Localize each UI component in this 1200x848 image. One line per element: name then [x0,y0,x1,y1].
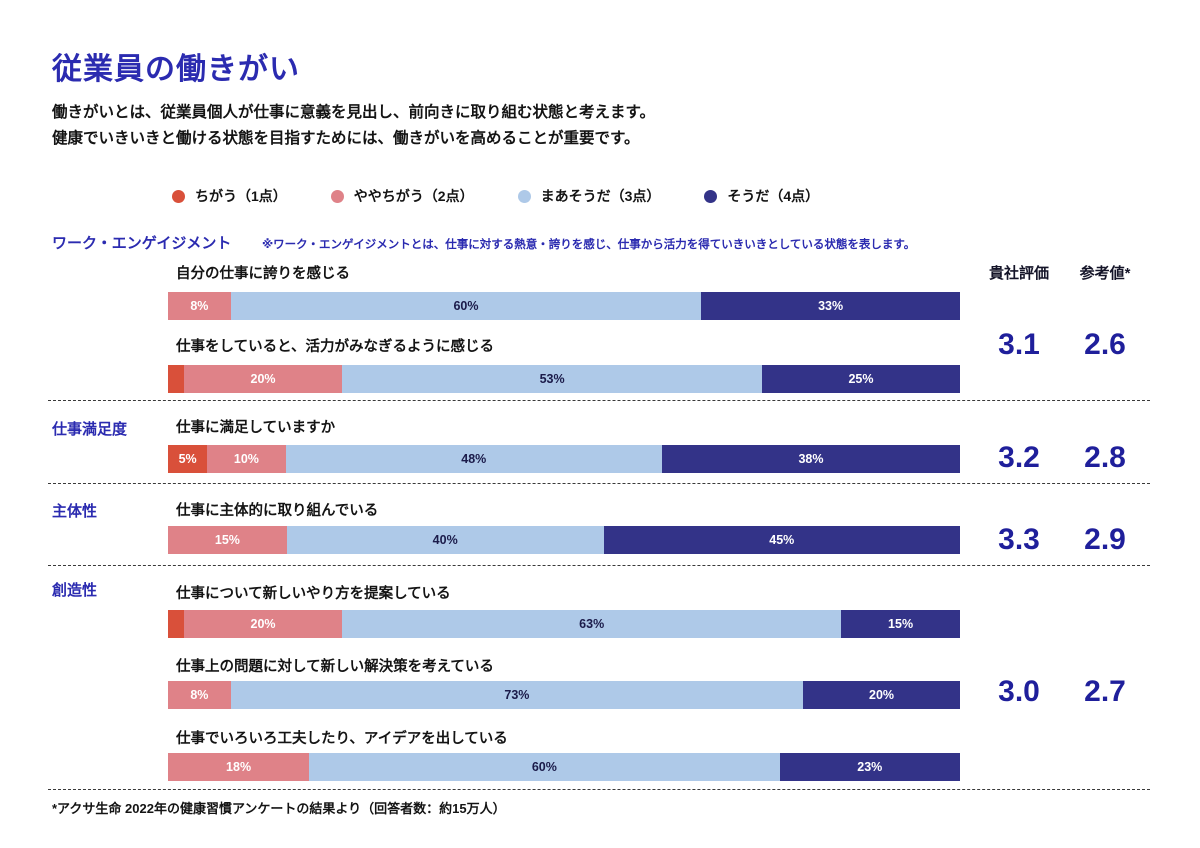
legend-item: そうだ（4点） [704,186,819,206]
section-divider [48,565,1150,566]
source-footnote: *アクサ生命 2022年の健康習慣アンケートの結果より（回答者数：約15万人） [52,798,506,817]
bar-segment: 73% [231,681,803,709]
own-score-value: 3.3 [982,523,1056,557]
bar-segment-value: 63% [579,617,604,631]
bar-segment-value: 10% [234,452,259,466]
stacked-bar: 8%60%33% [168,292,960,320]
bar-segment-value: 48% [461,452,486,466]
bar-segment-value: 25% [848,372,873,386]
bar-segment-value: 53% [540,372,565,386]
bar-segment: 60% [309,753,779,781]
bar-segment: 18% [168,753,309,781]
section-label-2: 主体性 [52,500,97,521]
bar-segment-value: 23% [857,760,882,774]
bar-segment: 8% [168,292,231,320]
bar-segment: 63% [342,610,841,638]
bar-segment: 23% [780,753,960,781]
question-label: 仕事上の問題に対して新しい解決策を考えている [176,655,494,676]
legend: ちがう（1点）ややちがう（2点）まあそうだ（3点）そうだ（4点） [172,186,819,206]
legend-item: ちがう（1点） [172,186,287,206]
bar-segment-value: 20% [251,617,276,631]
reference-score-value: 2.6 [1068,328,1142,362]
bar-segment: 40% [287,526,604,554]
section-label-0: ワーク・エンゲイジメント [52,232,231,253]
own-score-value: 3.2 [982,441,1056,475]
bar-segment-value: 20% [869,688,894,702]
bar-segment: 33% [701,292,960,320]
section-divider [48,400,1150,401]
bar-segment-value: 60% [453,299,478,313]
bar-segment: 10% [207,445,285,473]
bar-segment-value: 40% [433,533,458,547]
bar-segment-value: 5% [179,452,197,466]
own-score-value: 3.0 [982,675,1056,709]
question-label: 仕事に主体的に取り組んでいる [176,499,378,520]
bar-segment [168,610,184,638]
bar-segment-value: 33% [818,299,843,313]
bar-segment: 60% [231,292,701,320]
intro-paragraph: 働きがいとは、従業員個人が仕事に意義を見出し、前向きに取り組む状態と考えます。 … [52,100,655,152]
bar-segment: 5% [168,445,207,473]
footnote-divider [48,789,1150,790]
stacked-bar: 15%40%45% [168,526,960,554]
section-note-0: ※ワーク・エンゲイジメントとは、仕事に対する熱意・誇りを感じ、仕事から活力を得て… [262,236,915,252]
question-label: 仕事でいろいろ工夫したり、アイデアを出している [176,727,508,748]
bar-segment: 38% [662,445,960,473]
bar-segment: 53% [342,365,762,393]
reference-score-value: 2.9 [1068,523,1142,557]
legend-item: まあそうだ（3点） [518,186,661,206]
circle-icon [518,190,531,203]
bar-segment-value: 18% [226,760,251,774]
bar-segment-value: 8% [190,688,208,702]
legend-item-label: まあそうだ（3点） [541,186,661,206]
bar-segment: 15% [168,526,287,554]
stacked-bar: 20%53%25% [168,365,960,393]
bar-segment-value: 38% [798,452,823,466]
bar-segment: 20% [184,610,342,638]
bar-segment-value: 73% [504,688,529,702]
section-divider [48,483,1150,484]
question-label: 自分の仕事に誇りを感じる [176,262,350,283]
circle-icon [331,190,344,203]
bar-segment-value: 8% [190,299,208,313]
own-score-value: 3.1 [982,328,1056,362]
column-header-own-score: 貴社評価 [982,262,1056,283]
infographic-page: 従業員の働きがい 働きがいとは、従業員個人が仕事に意義を見出し、前向きに取り組む… [0,0,1200,848]
reference-score-value: 2.7 [1068,675,1142,709]
question-label: 仕事について新しいやり方を提案している [176,582,451,603]
bar-segment: 20% [184,365,342,393]
bar-segment: 15% [841,610,960,638]
legend-item-label: ややちがう（2点） [354,186,474,206]
stacked-bar: 5%10%48%38% [168,445,960,473]
bar-segment-value: 15% [215,533,240,547]
bar-segment [168,365,184,393]
page-title: 従業員の働きがい [52,44,300,88]
stacked-bar: 20%63%15% [168,610,960,638]
bar-segment-value: 20% [251,372,276,386]
section-label-3: 創造性 [52,579,97,600]
bar-segment-value: 60% [532,760,557,774]
stacked-bar: 18%60%23% [168,753,960,781]
bar-segment: 48% [286,445,662,473]
circle-icon [704,190,717,203]
bar-segment: 45% [604,526,960,554]
stacked-bar: 8%73%20% [168,681,960,709]
bar-segment-value: 45% [769,533,794,547]
question-label: 仕事に満足していますか [176,416,335,437]
bar-segment: 8% [168,681,231,709]
bar-segment: 25% [762,365,960,393]
column-header-reference: 参考値* [1068,262,1142,283]
legend-item-label: ちがう（1点） [195,186,287,206]
bar-segment-value: 15% [888,617,913,631]
legend-item: ややちがう（2点） [331,186,474,206]
reference-score-value: 2.8 [1068,441,1142,475]
question-label: 仕事をしていると、活力がみなぎるように感じる [176,335,494,356]
legend-item-label: そうだ（4点） [727,186,819,206]
section-label-1: 仕事満足度 [52,418,127,439]
circle-icon [172,190,185,203]
bar-segment: 20% [803,681,960,709]
